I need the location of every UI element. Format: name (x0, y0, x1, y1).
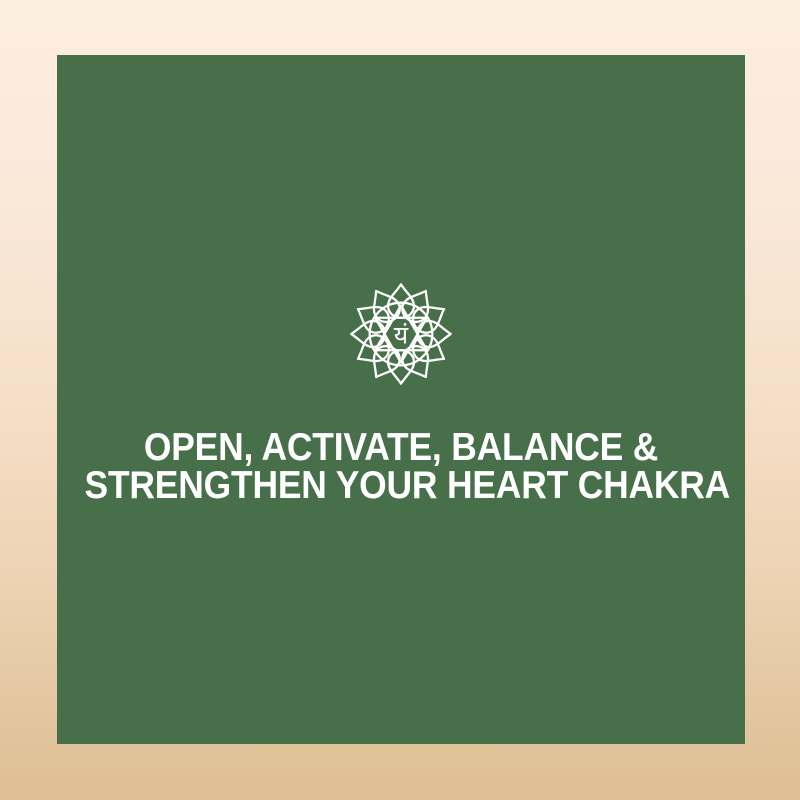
poster-canvas: यं OPEN, ACTIVATE, BALANCE & STRENGTHEN … (0, 0, 800, 800)
anahata-heart-chakra-icon: यं (347, 280, 455, 388)
headline-line-2: STRENGTHEN YOUR HEART CHAKRA (85, 467, 718, 505)
green-card-panel: यं OPEN, ACTIVATE, BALANCE & STRENGTHEN … (57, 55, 745, 744)
headline-line-1: OPEN, ACTIVATE, BALANCE & (85, 429, 718, 467)
page-title: OPEN, ACTIVATE, BALANCE & STRENGTHEN YOU… (57, 429, 745, 505)
bija-mantra-glyph: यं (394, 321, 409, 350)
card-content: यं OPEN, ACTIVATE, BALANCE & STRENGTHEN … (57, 55, 745, 744)
